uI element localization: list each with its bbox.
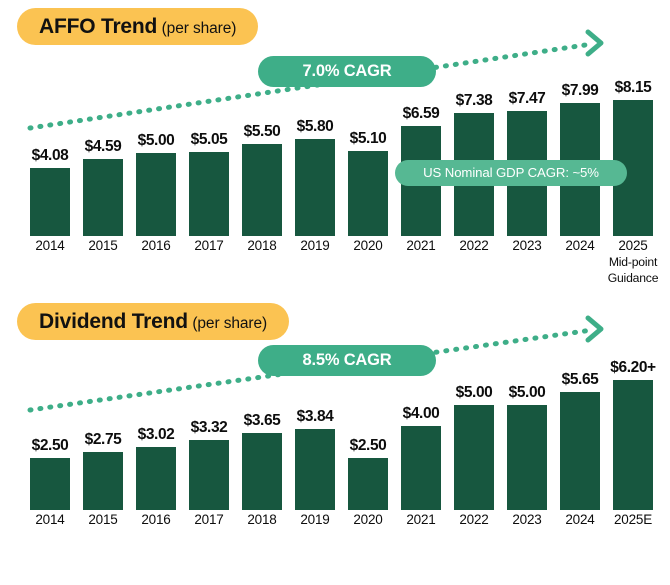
bar-value-label: $3.02 [138, 426, 175, 444]
affo-cagr-badge: 7.0% CAGR [258, 56, 436, 87]
bar-value-label: $4.59 [85, 138, 122, 156]
bar-value-label: $5.65 [562, 371, 599, 389]
bar-value-label: $7.38 [456, 92, 493, 110]
dividend-cagr-badge: 8.5% CAGR [258, 345, 436, 376]
bar-value-label: $6.20+ [610, 359, 655, 377]
bar-value-label: $5.50 [244, 123, 281, 141]
bar-value-label: $4.00 [403, 405, 440, 423]
bar-value-label: $2.75 [85, 431, 122, 449]
bar-value-label: $5.80 [297, 118, 334, 136]
bar-value-label: $3.65 [244, 412, 281, 430]
bar-value-label: $5.00 [456, 384, 493, 402]
bar-value-label: $3.32 [191, 419, 228, 437]
affo-gdp-note-badge: US Nominal GDP CAGR: ~5% [395, 160, 627, 186]
bar-value-label: $5.05 [191, 131, 228, 149]
bar-value-label: $7.99 [562, 82, 599, 100]
chart-page: { "colors": { "bar_green": "#17573F", "p… [0, 0, 670, 545]
bar-value-label: $8.15 [615, 79, 652, 97]
bar-value-label: $3.84 [297, 408, 334, 426]
bar-value-label: $5.00 [138, 132, 175, 150]
dividend-chart-panel: Dividend Trend (per share) 8.5% CAGR $2.… [0, 295, 670, 545]
bar-value-label: $5.10 [350, 130, 387, 148]
bar-value-label: $2.50 [350, 437, 387, 455]
bar-value-label: $4.08 [32, 147, 69, 165]
bar-value-label: $5.00 [509, 384, 546, 402]
bar-value-label: $2.50 [32, 437, 69, 455]
bar-value-label: $7.47 [509, 90, 546, 108]
affo-chart-panel: AFFO Trend (per share) 7.0% CAGR $4.08$4… [0, 0, 670, 290]
bar-value-label: $6.59 [403, 105, 440, 123]
